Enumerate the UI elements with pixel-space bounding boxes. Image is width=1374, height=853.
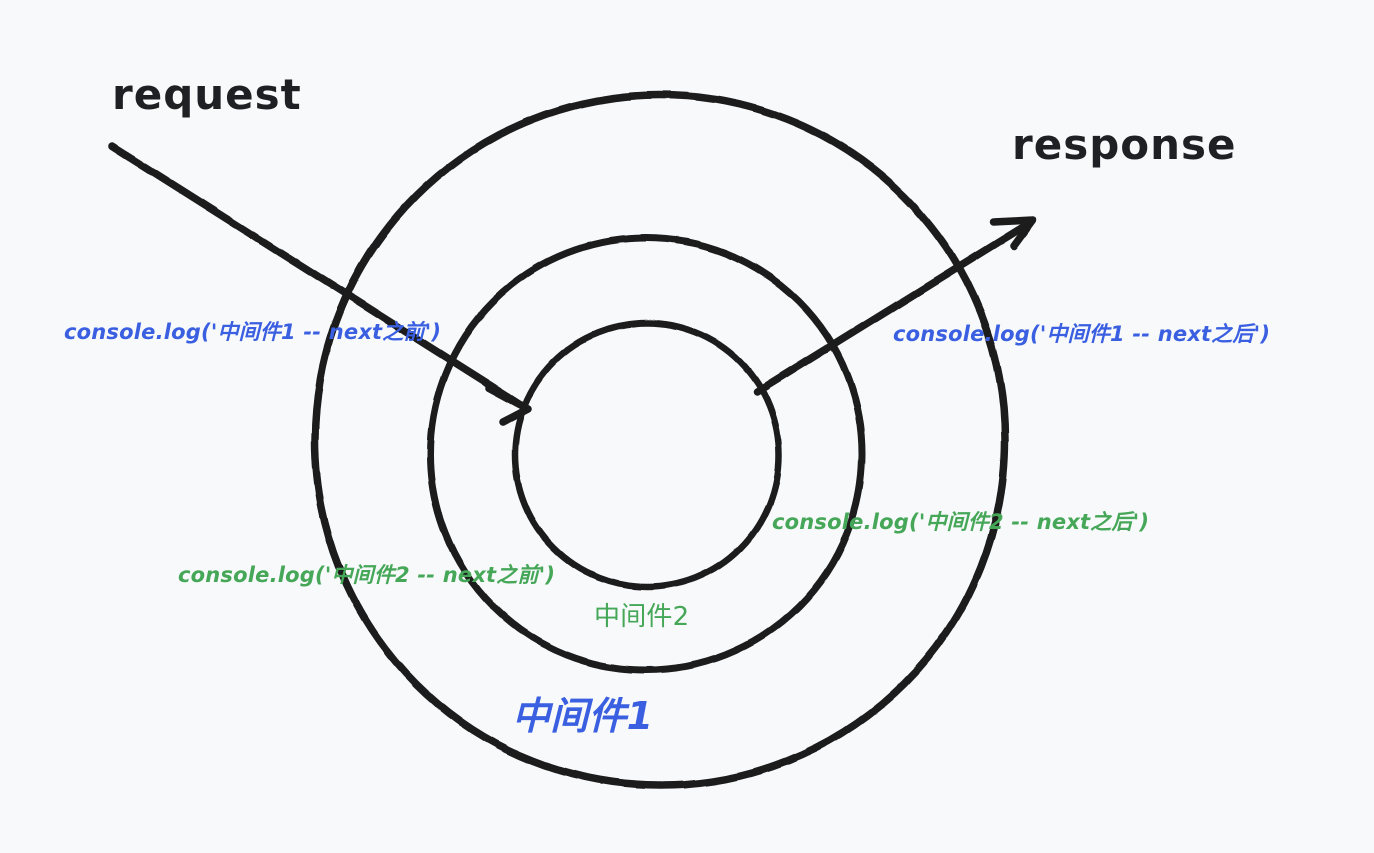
response-label: response [1012, 120, 1237, 169]
log-middleware1-after: console.log('中间件1 -- next之后') [893, 318, 1270, 348]
middleware1-title: 中间件1 [512, 685, 653, 740]
log-middleware2-before: console.log('中间件2 -- next之前') [178, 559, 555, 589]
diagram-canvas: request response console.log('中间件1 -- ne… [0, 0, 1374, 853]
middleware2-title: 中间件2 [594, 596, 689, 633]
inner-ring [515, 323, 779, 587]
outer-ring [315, 95, 1005, 785]
log-middleware2-after: console.log('中间件2 -- next之后') [772, 506, 1149, 536]
log-middleware1-before: console.log('中间件1 -- next之前') [64, 316, 441, 346]
request-label: request [112, 70, 302, 119]
response-arrow [757, 220, 1033, 392]
